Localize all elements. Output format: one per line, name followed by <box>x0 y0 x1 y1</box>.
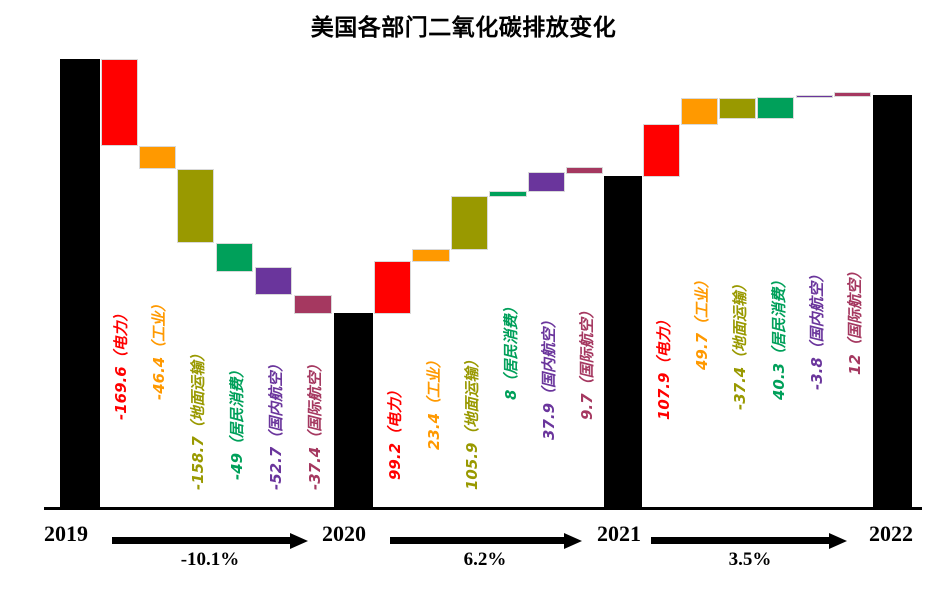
delta-2019-industry <box>139 146 176 169</box>
arrow-2021-2022-pct-label: 3.5% <box>690 549 810 571</box>
delta-2019-ground <box>177 169 214 243</box>
arrow-2021-2022 <box>651 533 847 547</box>
label-2020-ground: 105.9（地面运输） <box>465 353 480 490</box>
label-2019-electricity: -169.6（电力） <box>114 306 129 420</box>
label-2020-domestic-air: 37.9（国内航空） <box>542 313 557 440</box>
total-bar-2019 <box>60 59 100 508</box>
label-2020-electricity: 99.2（电力） <box>388 383 403 480</box>
arrow-2020-2021 <box>390 533 582 547</box>
label-2021-domestic-air: -3.8（国内航空） <box>810 267 825 390</box>
delta-2019-intl-air <box>294 295 332 314</box>
delta-2019-residential <box>216 243 253 272</box>
label-2019-domestic-air: -52.7（国内航空） <box>269 357 284 490</box>
label-2019-intl-air: -37.4（国际航空） <box>308 357 323 490</box>
arrow-2020-2021-head-icon <box>564 533 582 549</box>
arrow-2019-2020-shaft <box>112 537 290 544</box>
delta-2019-electricity <box>101 59 138 146</box>
delta-2020-industry <box>412 249 450 262</box>
axis-baseline <box>44 507 922 510</box>
delta-2021-electricity <box>643 124 680 177</box>
label-2019-ground: -158.7（地面运输） <box>191 346 206 490</box>
delta-2020-electricity <box>374 261 411 314</box>
year-label-2019: 2019 <box>44 521 88 547</box>
year-label-2020: 2020 <box>322 521 366 547</box>
label-2021-ground: -37.4（地面运输） <box>733 277 748 410</box>
year-label-2021: 2021 <box>597 521 641 547</box>
delta-2021-intl-air <box>834 92 871 97</box>
total-bar-2021 <box>604 176 642 508</box>
arrow-2019-2020-head-icon <box>290 533 308 549</box>
delta-2020-intl-air <box>566 167 603 174</box>
delta-2019-domestic-air <box>255 267 292 295</box>
arrow-2019-2020 <box>112 533 308 547</box>
label-2021-electricity: 107.9（电力） <box>657 313 672 420</box>
delta-2020-ground <box>451 196 488 250</box>
delta-2021-ground <box>719 98 756 119</box>
label-2020-intl-air: 9.7（国际航空） <box>580 303 595 420</box>
total-bar-2020 <box>334 313 373 508</box>
arrow-2020-2021-shaft <box>390 537 564 544</box>
delta-2020-residential <box>489 191 527 197</box>
year-label-2022: 2022 <box>869 521 913 547</box>
label-2020-residential: 8（居民消费） <box>504 300 519 400</box>
arrow-2019-2020-pct-label: -10.1% <box>150 549 270 571</box>
label-2020-industry: 23.4（工业） <box>427 353 442 450</box>
arrow-2021-2022-head-icon <box>829 533 847 549</box>
label-2021-intl-air: 12（国际航空） <box>848 264 863 375</box>
arrow-2021-2022-shaft <box>651 537 829 544</box>
label-2021-residential: 40.3（居民消费） <box>772 273 787 400</box>
label-2019-residential: -49（居民消费） <box>230 363 245 480</box>
delta-2021-domestic-air <box>796 95 833 98</box>
label-2021-industry: 49.7（工业） <box>695 273 710 370</box>
label-2019-industry: -46.4（工业） <box>152 297 167 400</box>
total-bar-2022 <box>873 95 912 508</box>
delta-2020-domestic-air <box>528 172 565 192</box>
waterfall-chart: 美国各部门二氧化碳排放变化 -169.6（电力）-46.4（工业）-158.7（… <box>0 0 927 593</box>
delta-2021-industry <box>681 98 718 125</box>
year-axis: 2019202020212022-10.1%6.2%3.5% <box>0 521 927 561</box>
plot-area: -169.6（电力）-46.4（工业）-158.7（地面运输）-49（居民消费）… <box>0 0 927 520</box>
delta-2021-residential <box>757 97 794 119</box>
arrow-2020-2021-pct-label: 6.2% <box>425 549 545 571</box>
